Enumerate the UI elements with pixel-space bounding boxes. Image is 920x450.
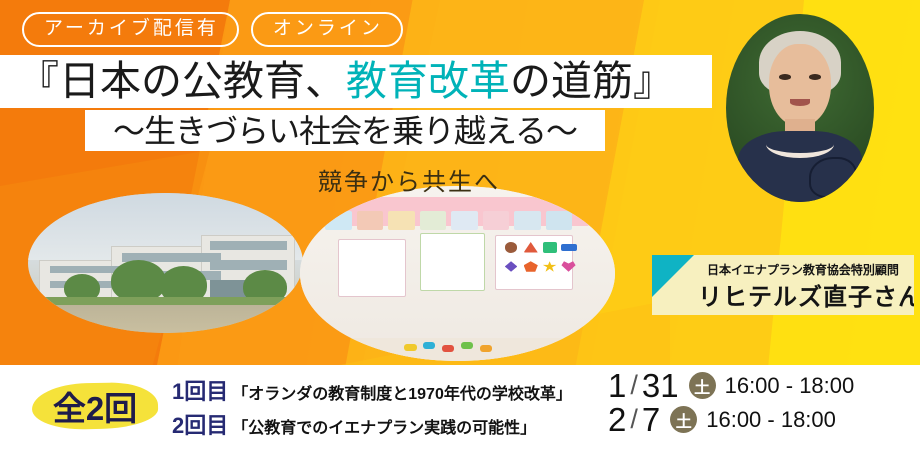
shape-square (543, 242, 557, 253)
pearl-necklace (766, 131, 834, 159)
badge-archive: アーカイブ配信有 (22, 12, 239, 47)
shape-rectangle (561, 244, 577, 251)
badge-row: アーカイブ配信有 オンライン (22, 12, 403, 47)
session-number: 2回目 (172, 408, 228, 440)
title-prefix: 『日本の公教育、 (18, 58, 346, 104)
school-building-photo (28, 193, 303, 333)
window-row (210, 260, 287, 270)
picture-card (388, 211, 415, 230)
schedule-row: 1回目 「オランダの教育制度と1970年代の学校改革」 (172, 374, 572, 406)
picture-card (451, 211, 478, 230)
session-count-badge: 全2回 (26, 377, 164, 435)
picture-card (357, 211, 384, 230)
speaker-name: リヒテルズ直子さん (698, 277, 908, 312)
session-day: 7 (642, 403, 660, 436)
window-row (210, 241, 287, 251)
session-month: 2 (608, 403, 626, 436)
speaker-name-plate: 日本イエナプラン教育協会特別顧問 リヒテルズ直子さん (652, 255, 914, 315)
picture-card (546, 211, 573, 230)
title-accent: 教育改革 (346, 58, 510, 104)
window-row (50, 266, 122, 273)
weekday-poster (338, 239, 406, 297)
picture-card (420, 211, 447, 230)
toy-block (404, 344, 417, 351)
session-datetime: 2 / 7 土 16:00 - 18:00 (608, 403, 836, 436)
page-subtitle: 〜生きづらい社会を乗り越える〜 (85, 110, 605, 151)
page-title: 『日本の公教育、教育改革の道筋』 (0, 55, 712, 108)
date-separator: / (630, 372, 638, 399)
session-time: 16:00 - 18:00 (706, 409, 836, 431)
day-of-week-badge: 土 (670, 406, 697, 433)
toy-block (480, 345, 493, 352)
schedule-footer: 全2回 1回目 「オランダの教育制度と1970年代の学校改革」 1 / 31 土… (0, 365, 920, 450)
season-poster (420, 233, 485, 291)
seminar-banner: アーカイブ配信有 オンライン 『日本の公教育、教育改革の道筋』 〜生きづらい社会… (0, 0, 920, 450)
session-title: 「オランダの教育制度と1970年代の学校改革」 (232, 380, 572, 404)
picture-card (483, 211, 510, 230)
toy-block (423, 342, 436, 349)
eye (779, 74, 791, 80)
title-suffix: の道筋』 (510, 58, 674, 104)
title-line-1: 『日本の公教育、教育改革の道筋』 (0, 61, 674, 102)
grass-strip (34, 297, 298, 305)
speaker-affiliation: 日本イエナプラン教育協会特別顧問 (698, 261, 908, 278)
picture-card (325, 211, 352, 230)
speaker-portrait-photo (726, 14, 874, 202)
shape-circle (505, 242, 518, 253)
session-title: 「公教育でのイエナプラン実践の可能性」 (232, 414, 536, 438)
face (769, 44, 831, 127)
badge-online: オンライン (251, 12, 403, 47)
tagline: 競争から共生へ (318, 162, 500, 197)
picture-card (514, 211, 541, 230)
eye (809, 74, 821, 80)
session-day: 31 (642, 369, 679, 402)
classroom-table (300, 338, 615, 361)
toy-block (461, 342, 474, 349)
date-separator: / (630, 406, 638, 433)
schedule-row: 2回目 「公教育でのイエナプラン実践の可能性」 (172, 408, 536, 440)
session-datetime: 1 / 31 土 16:00 - 18:00 (608, 369, 854, 402)
session-month: 1 (608, 369, 626, 402)
day-of-week-badge: 土 (689, 372, 716, 399)
children-classroom-photo (300, 186, 615, 361)
session-time: 16:00 - 18:00 (725, 375, 855, 397)
subtitle-text: 〜生きづらい社会を乗り越える〜 (113, 115, 577, 147)
corner-accent-icon (652, 255, 694, 297)
toy-block (442, 345, 455, 352)
session-number: 1回目 (172, 374, 228, 406)
session-count-label: 全2回 (53, 382, 137, 430)
